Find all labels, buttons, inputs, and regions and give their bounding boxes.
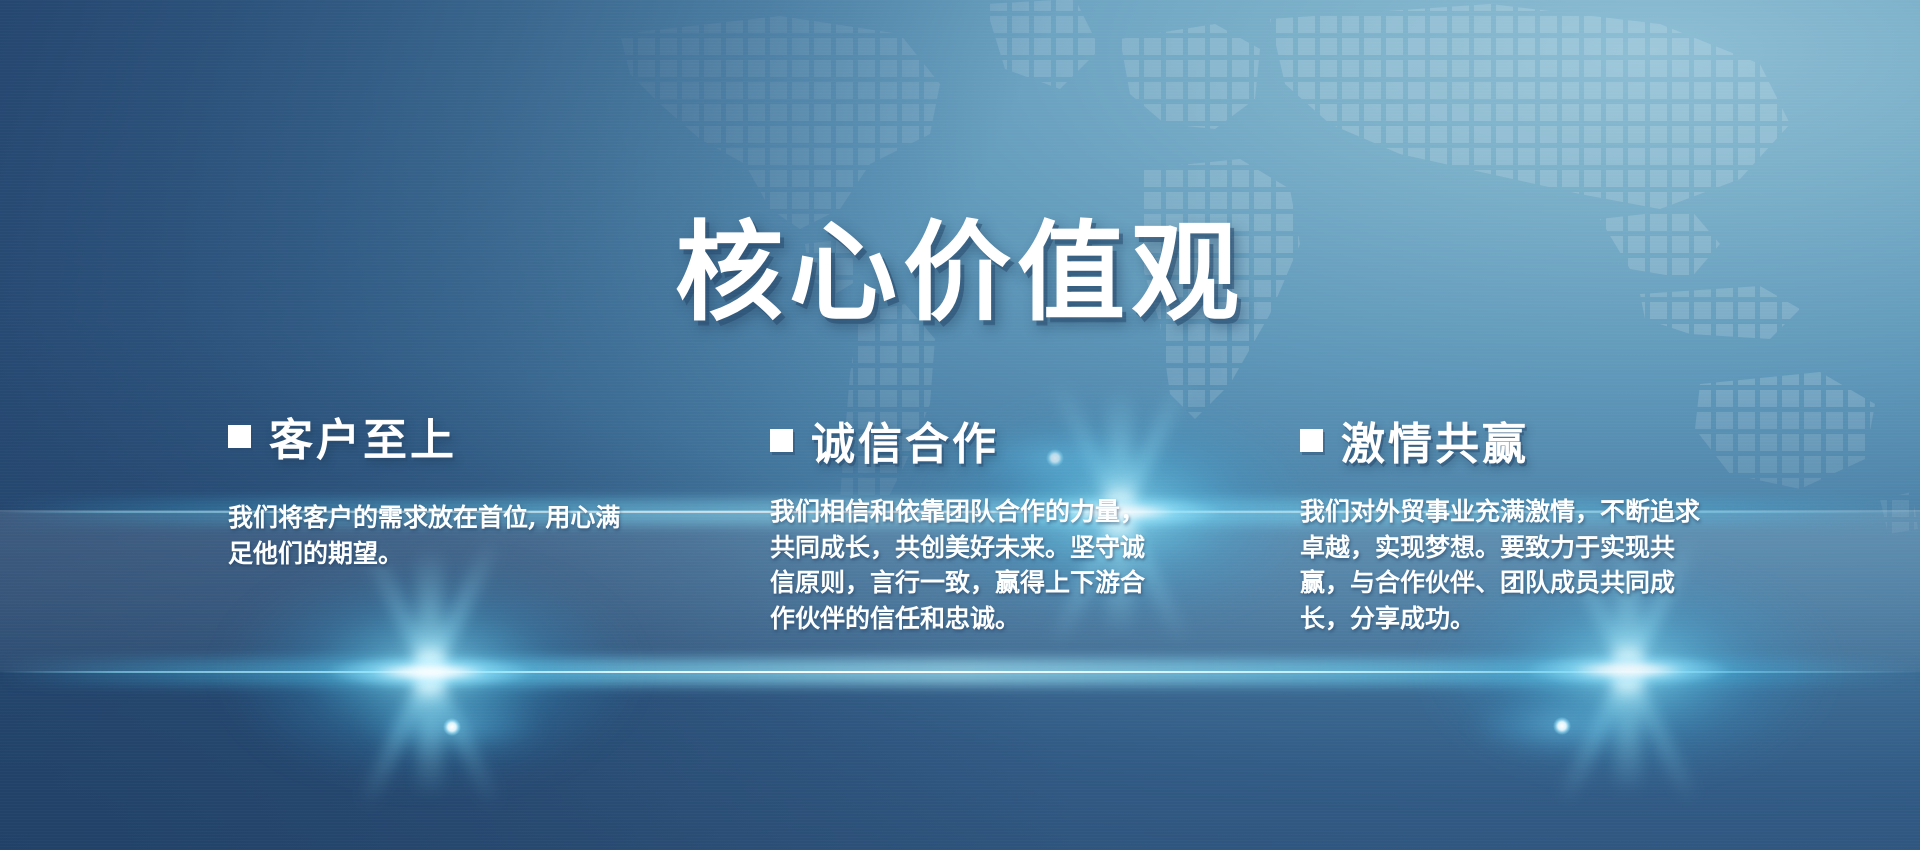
value-column-2: 诚信合作 我们相信和依靠团队合作的力量，共同成长，共创美好未来。坚守诚信原则，言… xyxy=(770,408,1180,636)
value-body-2: 我们相信和依靠团队合作的力量，共同成长，共创美好未来。坚守诚信原则，言行一致，赢… xyxy=(770,494,1162,636)
square-bullet-icon xyxy=(1300,429,1323,452)
value-body-1: 我们将客户的需求放在首位, 用心满足他们的期望。 xyxy=(228,500,628,571)
square-bullet-icon xyxy=(228,425,251,448)
value-heading-3: 激情共赢 xyxy=(1300,408,1720,472)
square-bullet-icon xyxy=(770,429,793,452)
value-heading-text-1: 客户至上 xyxy=(269,404,457,468)
core-values-columns: 客户至上 我们将客户的需求放在首位, 用心满足他们的期望。 诚信合作 我们相信和… xyxy=(0,0,1920,850)
value-column-3: 激情共赢 我们对外贸事业充满激情，不断追求卓越，实现梦想。要致力于实现共赢，与合… xyxy=(1300,408,1720,636)
value-heading-1: 客户至上 xyxy=(228,404,648,468)
value-heading-text-3: 激情共赢 xyxy=(1341,408,1529,472)
slide-canvas: 核心价值观 客户至上 我们将客户的需求放在首位, 用心满足他们的期望。 诚信合作… xyxy=(0,0,1920,850)
value-column-1: 客户至上 我们将客户的需求放在首位, 用心满足他们的期望。 xyxy=(228,404,648,571)
value-heading-2: 诚信合作 xyxy=(770,408,1180,472)
value-body-3: 我们对外贸事业充满激情，不断追求卓越，实现梦想。要致力于实现共赢，与合作伙伴、团… xyxy=(1300,494,1702,636)
value-heading-text-2: 诚信合作 xyxy=(811,408,999,472)
